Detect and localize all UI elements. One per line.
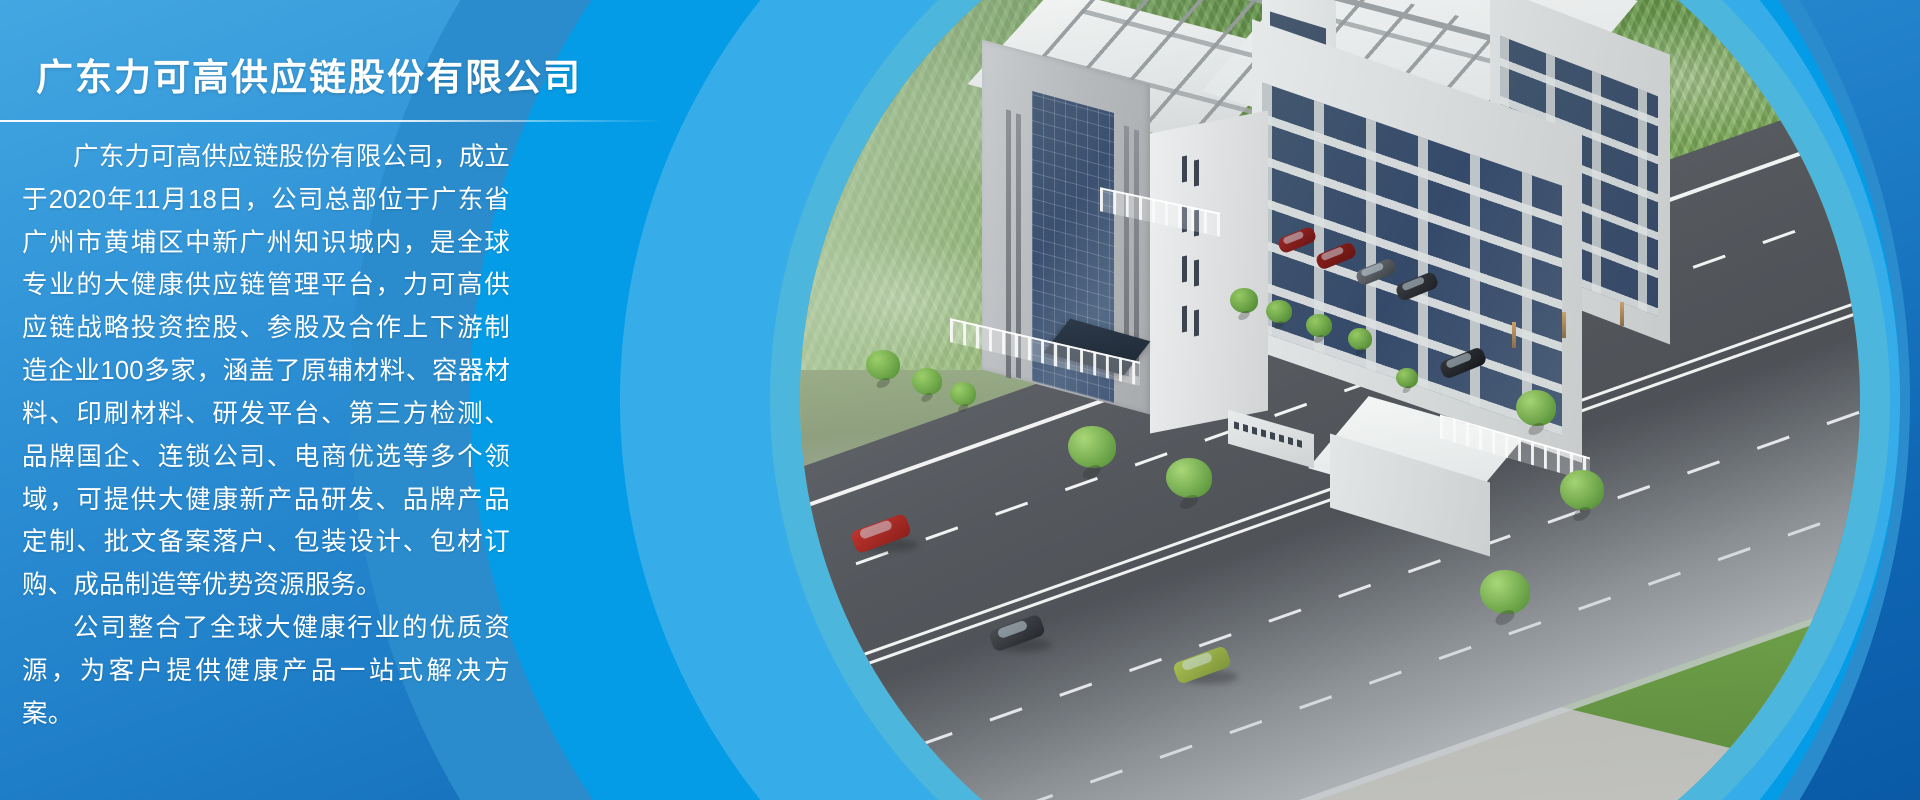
stair-slit-2	[1194, 160, 1199, 187]
stair-slit-5	[1182, 256, 1187, 283]
building-photo-disc	[800, 0, 1860, 800]
tree-3	[950, 382, 976, 406]
tree-9	[1348, 328, 1372, 350]
tree-6	[1230, 288, 1258, 313]
tree-2	[912, 368, 942, 395]
stair-slit-8	[1194, 310, 1199, 337]
description-paragraph-2: 公司整合了全球大健康行业的优质资源，为客户提供健康产品一站式解决方案。	[22, 607, 510, 735]
lamp-post-3	[1620, 302, 1624, 326]
tree-10	[1516, 390, 1556, 426]
title-divider	[0, 120, 663, 122]
stair-slit-6	[1194, 260, 1199, 287]
company-description: 广东力可高供应链股份有限公司，成立于2020年11月18日，公司总部位于广东省广…	[22, 136, 510, 736]
tree-12	[1480, 570, 1530, 614]
tower-right-facade	[1150, 111, 1268, 434]
building-photo	[800, 0, 1860, 800]
tree-8	[1306, 314, 1332, 337]
tree-13	[1396, 368, 1418, 388]
stair-slit-7	[1182, 306, 1187, 333]
tree-5	[1166, 458, 1212, 498]
text-panel: 广东力可高供应链股份有限公司 广东力可高供应链股份有限公司，成立于2020年11…	[0, 0, 620, 800]
lamp-post-2	[1562, 312, 1566, 338]
page-title: 广东力可高供应链股份有限公司	[36, 56, 582, 100]
banner-stage: 广东力可高供应链股份有限公司 广东力可高供应链股份有限公司，成立于2020年11…	[0, 0, 1920, 800]
tree-7	[1266, 300, 1292, 323]
lamp-post-1	[1512, 322, 1516, 348]
tree-11	[1560, 470, 1604, 510]
description-paragraph-1: 广东力可高供应链股份有限公司，成立于2020年11月18日，公司总部位于广东省广…	[22, 136, 510, 607]
tree-1	[866, 350, 900, 380]
stair-slit-1	[1182, 156, 1187, 183]
tree-4	[1068, 426, 1116, 468]
